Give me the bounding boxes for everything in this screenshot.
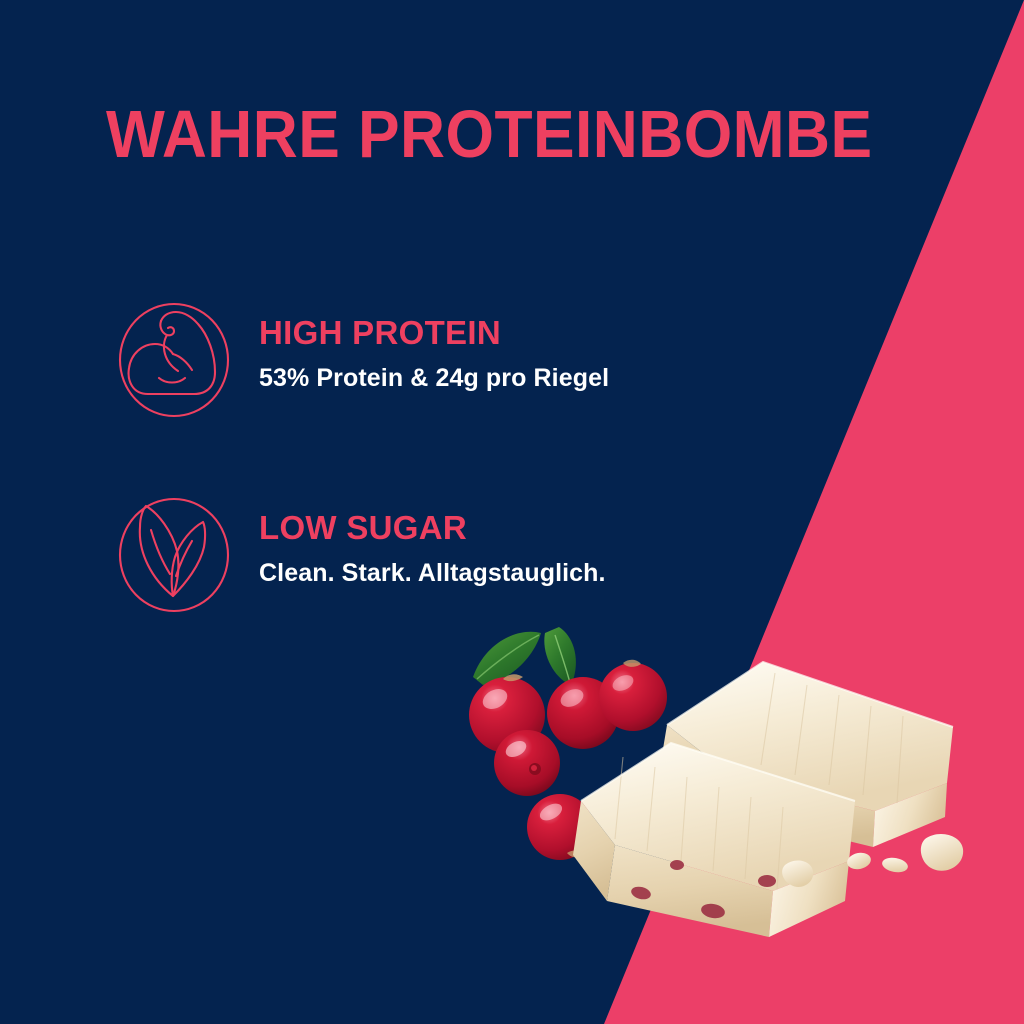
feature-row: HIGH PROTEIN 53% Protein & 24g pro Riege… [0, 296, 620, 426]
protein-bar-product-photo [455, 615, 975, 945]
page-title: WAHRE PROTEINBOMBE [106, 101, 873, 168]
feature-title: HIGH PROTEIN [259, 314, 501, 351]
feature-subtitle: Clean. Stark. Alltagstauglich. [259, 561, 606, 586]
feature-text-block: HIGH PROTEIN 53% Protein & 24g pro Riege… [259, 316, 609, 391]
promo-poster: WAHRE PROTEINBOMBE HIGH PROTEIN 53% Prot… [0, 0, 1024, 1024]
two-leaf-sprout-icon [118, 497, 230, 613]
feature-subtitle: 53% Protein & 24g pro Riegel [259, 366, 609, 391]
feature-text-block: LOW SUGAR Clean. Stark. Alltagstauglich. [259, 511, 606, 586]
green-leaves [473, 627, 576, 685]
flexed-bicep-icon [118, 302, 230, 418]
feature-row: LOW SUGAR Clean. Stark. Alltagstauglich. [0, 491, 620, 621]
feature-title: LOW SUGAR [259, 509, 467, 546]
